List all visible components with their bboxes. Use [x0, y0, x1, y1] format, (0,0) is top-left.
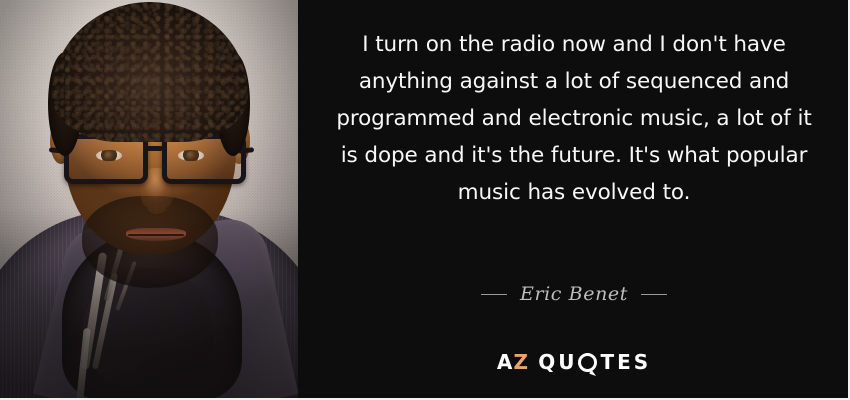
logo-quotes-suffix: TES: [600, 350, 651, 374]
azquotes-logo-wordmark: AZ QU TES: [497, 350, 651, 374]
logo-letter-a: A: [497, 350, 514, 374]
speech-bubble-o-icon: [578, 353, 597, 372]
logo-letter-z: Z: [514, 350, 530, 374]
author-dash-left: [481, 294, 507, 295]
azquotes-logo[interactable]: AZ QU TES: [298, 350, 850, 374]
author-dash-right: [641, 294, 667, 295]
quote-panel: I turn on the radio now and I don't have…: [298, 0, 850, 400]
speech-bubble-ring: [578, 353, 597, 372]
quote-card: I turn on the radio now and I don't have…: [0, 0, 850, 400]
speech-bubble-tail: [590, 369, 598, 376]
author-name: Eric Benet: [520, 283, 628, 305]
logo-quotes-prefix: QU: [538, 350, 577, 374]
author-attribution: Eric Benet: [298, 283, 850, 305]
author-portrait-photo: [0, 0, 298, 400]
quote-text: I turn on the radio now and I don't have…: [330, 26, 818, 211]
photo-vignette: [0, 0, 298, 400]
